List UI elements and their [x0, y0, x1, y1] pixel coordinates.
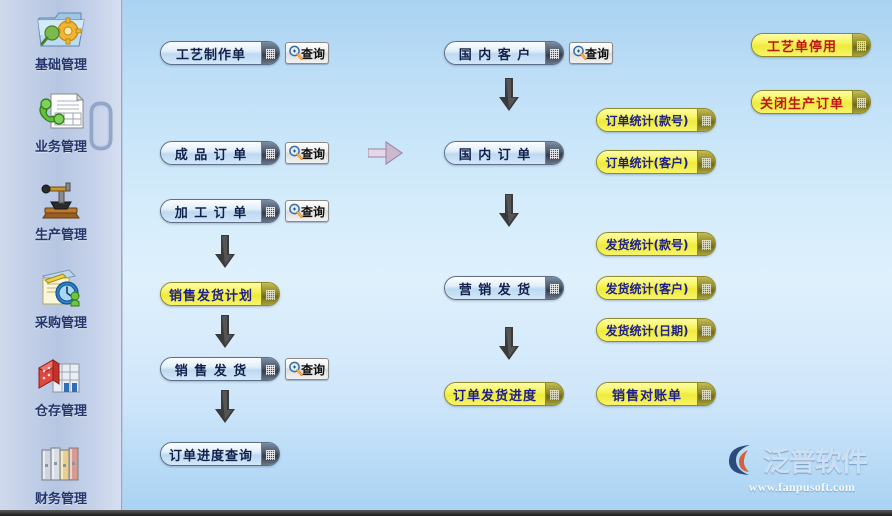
- query-button-domestic-customer[interactable]: 查询: [569, 42, 613, 64]
- clock-report-icon: [0, 264, 122, 310]
- action-button-close-production-order[interactable]: 关闭生产订单: [751, 90, 871, 114]
- action-button-label: 关闭生产订单: [752, 91, 853, 113]
- query-button-label: 查询: [585, 45, 609, 62]
- sidebar-item-basic-management[interactable]: 基础管理: [0, 6, 122, 84]
- logo-brand: 泛普软件: [763, 440, 867, 479]
- flow-button-order-progress-query[interactable]: 订单进度查询: [160, 442, 280, 466]
- report-button-label: 发货统计(日期): [597, 319, 698, 341]
- flow-button-label: 工艺制作单: [161, 42, 262, 64]
- flow-button-order-shipment-progress[interactable]: 订单发货进度: [444, 382, 564, 406]
- arrow-right-icon: [368, 140, 404, 166]
- workflow-canvas: 工艺制作单 查询 成 品 订 单 查询: [123, 0, 892, 510]
- query-button-finished-order[interactable]: 查询: [285, 142, 329, 164]
- report-button-order-stats-style[interactable]: 订单统计(款号): [596, 108, 716, 132]
- query-button-label: 查询: [301, 145, 325, 162]
- folder-gear-icon: [0, 6, 122, 52]
- sidebar-item-finance-management[interactable]: 财务管理: [0, 440, 122, 516]
- flow-button-label: 加 工 订 单: [161, 200, 262, 222]
- flow-button-label: 销 售 发 货: [161, 358, 262, 380]
- grip-handle[interactable]: [853, 91, 870, 113]
- flow-button-process-sheet[interactable]: 工艺制作单: [160, 41, 280, 65]
- flow-button-sales-shipment[interactable]: 销 售 发 货: [160, 357, 280, 381]
- paperclip-icon: [84, 98, 118, 154]
- sidebar-item-purchase-management[interactable]: 采购管理: [0, 264, 122, 342]
- report-button-shipment-stats-date[interactable]: 发货统计(日期): [596, 318, 716, 342]
- grip-handle[interactable]: [546, 42, 563, 64]
- flow-button-domestic-order[interactable]: 国 内 订 单: [444, 141, 564, 165]
- magnifier-icon: [288, 203, 304, 220]
- magnifier-icon: [288, 361, 304, 378]
- report-button-label: 销售对账单: [597, 383, 698, 405]
- action-button-disable-process-sheet[interactable]: 工艺单停用: [751, 33, 871, 57]
- arrow-down-icon: [498, 194, 520, 228]
- flow-button-label: 订单发货进度: [445, 383, 546, 405]
- query-button-label: 查询: [301, 203, 325, 220]
- arrow-down-icon: [498, 78, 520, 112]
- query-button-sales-shipment[interactable]: 查询: [285, 358, 329, 380]
- grip-handle[interactable]: [698, 277, 715, 299]
- report-button-sales-statement[interactable]: 销售对账单: [596, 382, 716, 406]
- report-button-label: 订单统计(款号): [597, 109, 698, 131]
- warehouse-icon: [0, 352, 122, 398]
- grip-handle[interactable]: [698, 233, 715, 255]
- flow-button-finished-order[interactable]: 成 品 订 单: [160, 141, 280, 165]
- sidebar-item-label: 基础管理: [0, 54, 122, 73]
- books-icon: [0, 440, 122, 486]
- arrow-down-icon: [498, 327, 520, 361]
- grip-handle[interactable]: [546, 277, 563, 299]
- grip-handle[interactable]: [546, 142, 563, 164]
- grip-handle[interactable]: [262, 200, 279, 222]
- fanpu-logo-icon: [726, 443, 760, 477]
- arrow-down-icon: [214, 390, 236, 424]
- report-button-shipment-stats-style[interactable]: 发货统计(款号): [596, 232, 716, 256]
- grip-handle[interactable]: [546, 383, 563, 405]
- report-button-label: 发货统计(客户): [597, 277, 698, 299]
- grip-handle[interactable]: [698, 383, 715, 405]
- flow-button-processing-order[interactable]: 加 工 订 单: [160, 199, 280, 223]
- watermark-logo: 泛普软件 www.fanpusoft.com: [726, 440, 878, 496]
- magnifier-icon: [288, 45, 304, 62]
- sidebar: 基础管理: [0, 0, 122, 510]
- sidebar-item-label: 财务管理: [0, 488, 122, 507]
- query-button-label: 查询: [301, 361, 325, 378]
- grip-handle[interactable]: [262, 443, 279, 465]
- flow-button-label: 销售发货计划: [161, 283, 262, 305]
- grip-handle[interactable]: [698, 109, 715, 131]
- status-bar: [0, 510, 892, 516]
- grip-handle[interactable]: [262, 42, 279, 64]
- query-button-process-sheet[interactable]: 查询: [285, 42, 329, 64]
- press-machine-icon: [0, 176, 122, 222]
- sidebar-item-label: 采购管理: [0, 312, 122, 331]
- flow-button-domestic-customer[interactable]: 国 内 客 户: [444, 41, 564, 65]
- flow-button-label: 国 内 订 单: [445, 142, 546, 164]
- logo-url: www.fanpusoft.com: [726, 480, 878, 495]
- sidebar-item-production-management[interactable]: 生产管理: [0, 176, 122, 254]
- flow-button-label: 国 内 客 户: [445, 42, 546, 64]
- grip-handle[interactable]: [698, 151, 715, 173]
- arrow-down-icon: [214, 235, 236, 269]
- grip-handle[interactable]: [262, 358, 279, 380]
- grip-handle[interactable]: [853, 34, 870, 56]
- report-button-label: 订单统计(客户): [597, 151, 698, 173]
- sidebar-item-label: 生产管理: [0, 224, 122, 243]
- query-button-label: 查询: [301, 45, 325, 62]
- action-button-label: 工艺单停用: [752, 34, 853, 56]
- query-button-processing-order[interactable]: 查询: [285, 200, 329, 222]
- flow-button-label: 成 品 订 单: [161, 142, 262, 164]
- application-window: 基础管理: [0, 0, 892, 516]
- grip-handle[interactable]: [262, 283, 279, 305]
- arrow-down-icon: [214, 315, 236, 349]
- sidebar-item-label: 仓存管理: [0, 400, 122, 419]
- flow-button-label: 营 销 发 货: [445, 277, 546, 299]
- report-button-label: 发货统计(款号): [597, 233, 698, 255]
- grip-handle[interactable]: [698, 319, 715, 341]
- flow-button-sales-shipment-plan[interactable]: 销售发货计划: [160, 282, 280, 306]
- grip-handle[interactable]: [262, 142, 279, 164]
- magnifier-icon: [288, 145, 304, 162]
- flow-button-label: 订单进度查询: [161, 443, 262, 465]
- sidebar-item-warehouse-management[interactable]: 仓存管理: [0, 352, 122, 430]
- report-button-order-stats-customer[interactable]: 订单统计(客户): [596, 150, 716, 174]
- report-button-shipment-stats-customer[interactable]: 发货统计(客户): [596, 276, 716, 300]
- magnifier-icon: [572, 45, 588, 62]
- flow-button-marketing-shipment[interactable]: 营 销 发 货: [444, 276, 564, 300]
